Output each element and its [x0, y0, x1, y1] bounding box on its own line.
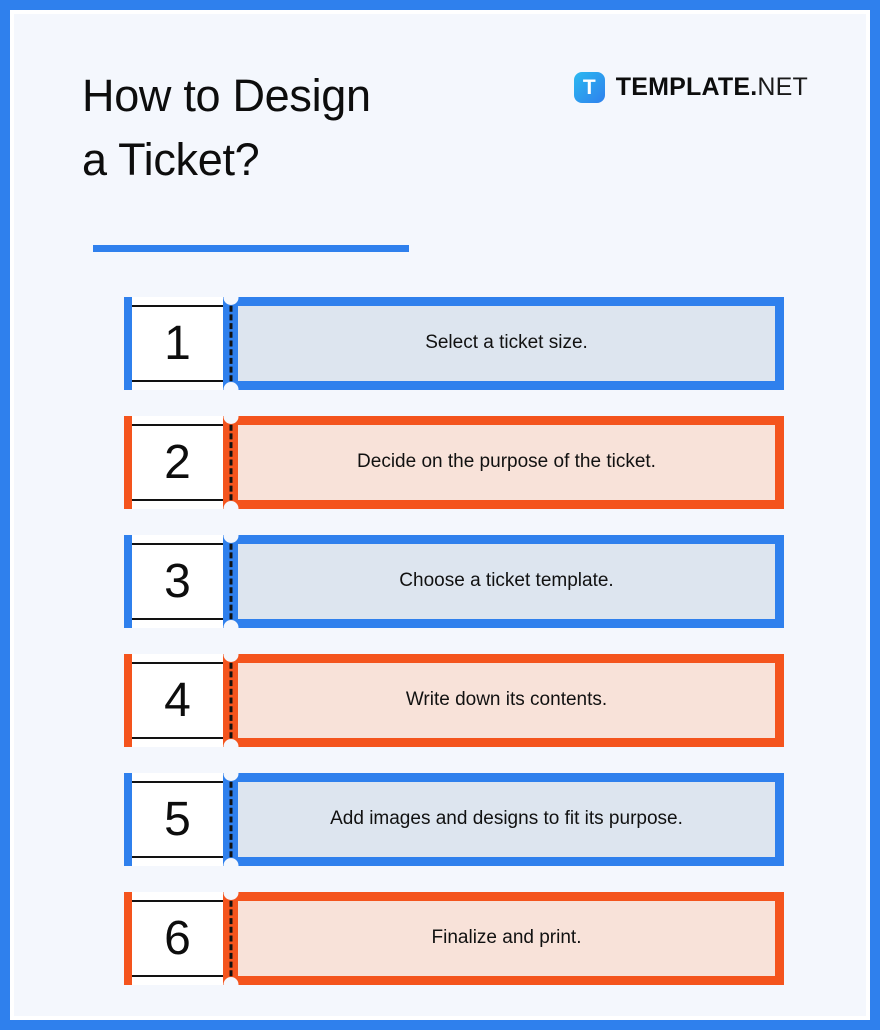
step-number: 4	[164, 677, 191, 725]
step-ticket-5: 5 Add images and designs to fit its purp…	[124, 773, 784, 866]
perforation-notch-top	[223, 290, 238, 305]
ticket-perforation	[223, 892, 238, 985]
perforation-notch-bottom	[223, 501, 238, 516]
page-title-line-1: How to Design	[82, 64, 542, 128]
ticket-perforation	[223, 297, 238, 390]
step-number: 1	[164, 320, 191, 368]
ticket-body: Add images and designs to fit its purpos…	[238, 773, 784, 866]
header: How to Design a Ticket? T TEMPLATE.NET	[14, 14, 866, 244]
ticket-stub: 4	[132, 654, 223, 747]
step-number: 3	[164, 558, 191, 606]
ticket-perforation	[223, 416, 238, 509]
ticket-stub: 2	[132, 416, 223, 509]
logo-wordmark: TEMPLATE.NET	[616, 75, 808, 100]
perforation-notch-bottom	[223, 858, 238, 873]
perforation-notch-top	[223, 528, 238, 543]
logo-mark-letter: T	[583, 77, 596, 98]
template-net-logo[interactable]: T TEMPLATE.NET	[574, 72, 808, 103]
ticket-body: Write down its contents.	[238, 654, 784, 747]
step-ticket-1: 1 Select a ticket size.	[124, 297, 784, 390]
ticket-stub: 6	[132, 892, 223, 985]
logo-wordmark-bold: TEMPLATE	[616, 73, 750, 101]
perforation-dashed-line	[229, 535, 232, 628]
step-number: 6	[164, 915, 191, 963]
perforation-notch-top	[223, 647, 238, 662]
perforation-notch-bottom	[223, 977, 238, 992]
step-text: Choose a ticket template.	[387, 569, 625, 594]
ticket-accent-bar	[124, 773, 132, 866]
perforation-notch-top	[223, 766, 238, 781]
perforation-dashed-line	[229, 416, 232, 509]
step-text: Add images and designs to fit its purpos…	[318, 807, 695, 832]
ticket-body: Select a ticket size.	[238, 297, 784, 390]
ticket-perforation	[223, 654, 238, 747]
step-text: Decide on the purpose of the ticket.	[345, 450, 668, 475]
perforation-dashed-line	[229, 297, 232, 390]
ticket-body: Finalize and print.	[238, 892, 784, 985]
page-title-line-2: a Ticket?	[82, 128, 542, 192]
step-text: Finalize and print.	[420, 926, 594, 951]
steps-list: 1 Select a ticket size. 2	[124, 297, 784, 985]
perforation-notch-bottom	[223, 382, 238, 397]
step-ticket-6: 6 Finalize and print.	[124, 892, 784, 985]
perforation-notch-bottom	[223, 739, 238, 754]
step-text: Write down its contents.	[394, 688, 619, 713]
perforation-notch-top	[223, 409, 238, 424]
page-title: How to Design a Ticket?	[82, 64, 542, 192]
ticket-stub: 5	[132, 773, 223, 866]
step-ticket-2: 2 Decide on the purpose of the ticket.	[124, 416, 784, 509]
step-ticket-3: 3 Choose a ticket template.	[124, 535, 784, 628]
ticket-accent-bar	[124, 297, 132, 390]
ticket-accent-bar	[124, 654, 132, 747]
ticket-body: Decide on the purpose of the ticket.	[238, 416, 784, 509]
ticket-perforation	[223, 773, 238, 866]
step-number: 5	[164, 796, 191, 844]
title-underline-rule	[93, 245, 409, 252]
logo-mark-icon: T	[574, 72, 605, 103]
ticket-stub: 3	[132, 535, 223, 628]
step-ticket-4: 4 Write down its contents.	[124, 654, 784, 747]
logo-wordmark-tld: NET	[757, 73, 808, 101]
ticket-accent-bar	[124, 892, 132, 985]
perforation-dashed-line	[229, 773, 232, 866]
ticket-perforation	[223, 535, 238, 628]
ticket-stub: 1	[132, 297, 223, 390]
ticket-body: Choose a ticket template.	[238, 535, 784, 628]
perforation-dashed-line	[229, 654, 232, 747]
ticket-accent-bar	[124, 416, 132, 509]
perforation-notch-top	[223, 885, 238, 900]
page-canvas: How to Design a Ticket? T TEMPLATE.NET 1	[10, 10, 870, 1020]
ticket-accent-bar	[124, 535, 132, 628]
step-number: 2	[164, 439, 191, 487]
perforation-dashed-line	[229, 892, 232, 985]
perforation-notch-bottom	[223, 620, 238, 635]
page-frame: How to Design a Ticket? T TEMPLATE.NET 1	[0, 0, 880, 1030]
step-text: Select a ticket size.	[413, 331, 600, 356]
